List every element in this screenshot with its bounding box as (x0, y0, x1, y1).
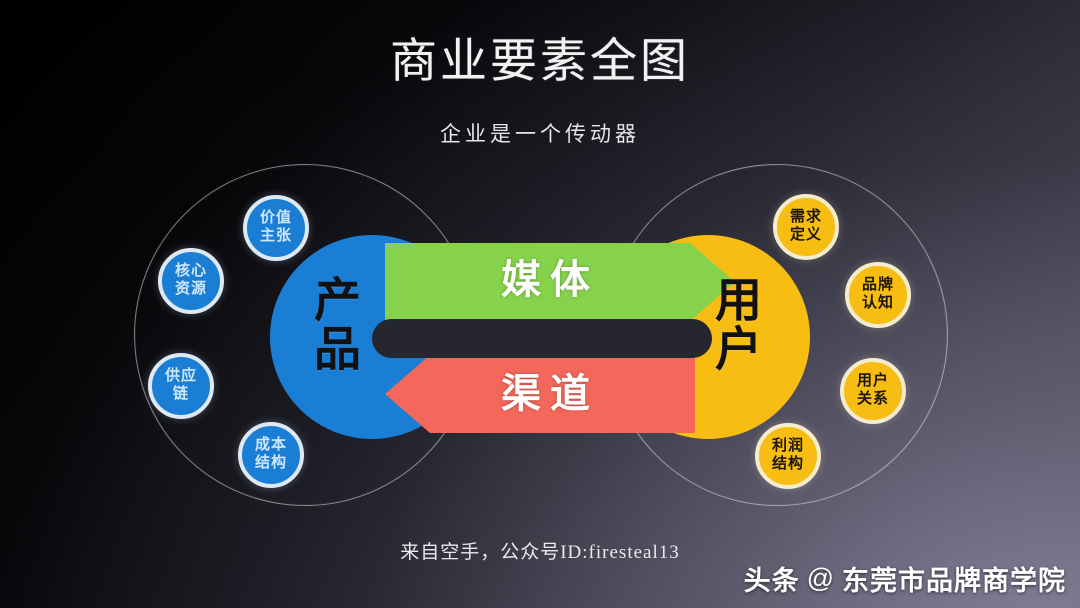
bubble-core-resources[interactable]: 核心 资源 (158, 248, 224, 314)
watermark: 头条 @ 东莞市品牌商学院 (744, 559, 1066, 598)
bubble-line-2: 定义 (790, 227, 822, 245)
inner-pill-hole (372, 319, 712, 358)
bubble-line-2: 资源 (175, 281, 207, 299)
bubble-demand-definition[interactable]: 需求 定义 (773, 194, 839, 260)
bubble-line-1: 需求 (790, 209, 822, 227)
bubble-line-2: 结构 (772, 456, 804, 474)
page-subtitle: 企业是一个传动器 (0, 118, 1080, 148)
bubble-line-1: 成本 (255, 437, 287, 455)
bubble-line-1: 核心 (175, 263, 207, 281)
bubble-line-1: 价值 (260, 210, 292, 228)
user-hub-label: 用户 (710, 275, 756, 373)
slide-canvas: 商业要素全图 企业是一个传动器 产品 用户 媒体 渠道 价值 主张 核心 资源 … (0, 0, 1080, 608)
bubble-profit-structure[interactable]: 利润 结构 (755, 423, 821, 489)
bubble-line-2: 链 (173, 386, 189, 404)
bubble-supply-chain[interactable]: 供应 链 (148, 353, 214, 419)
transmission-diagram: 产品 用户 媒体 渠道 (270, 235, 810, 440)
bubble-line-2: 主张 (260, 228, 292, 246)
bubble-brand-awareness[interactable]: 品牌 认知 (845, 262, 911, 328)
bubble-user-relationship[interactable]: 用户 关系 (840, 358, 906, 424)
bubble-line-2: 结构 (255, 455, 287, 473)
watermark-account: 东莞市品牌商学院 (842, 559, 1066, 598)
bubble-line-1: 品牌 (862, 277, 894, 295)
product-hub-label: 产品 (309, 275, 355, 373)
bubble-line-2: 关系 (857, 391, 889, 409)
page-title: 商业要素全图 (0, 36, 1080, 89)
bubble-line-2: 认知 (862, 295, 894, 313)
bubble-line-1: 利润 (772, 438, 804, 456)
watermark-at-symbol: @ (807, 563, 835, 594)
watermark-brand: 头条 (744, 559, 800, 598)
bubble-line-1: 用户 (857, 373, 889, 391)
channel-band-label: 渠道 (420, 361, 680, 419)
bubble-value-proposition[interactable]: 价值 主张 (243, 195, 309, 261)
media-band-label: 媒体 (420, 247, 680, 305)
bubble-cost-structure[interactable]: 成本 结构 (238, 422, 304, 488)
bubble-line-1: 供应 (165, 368, 197, 386)
